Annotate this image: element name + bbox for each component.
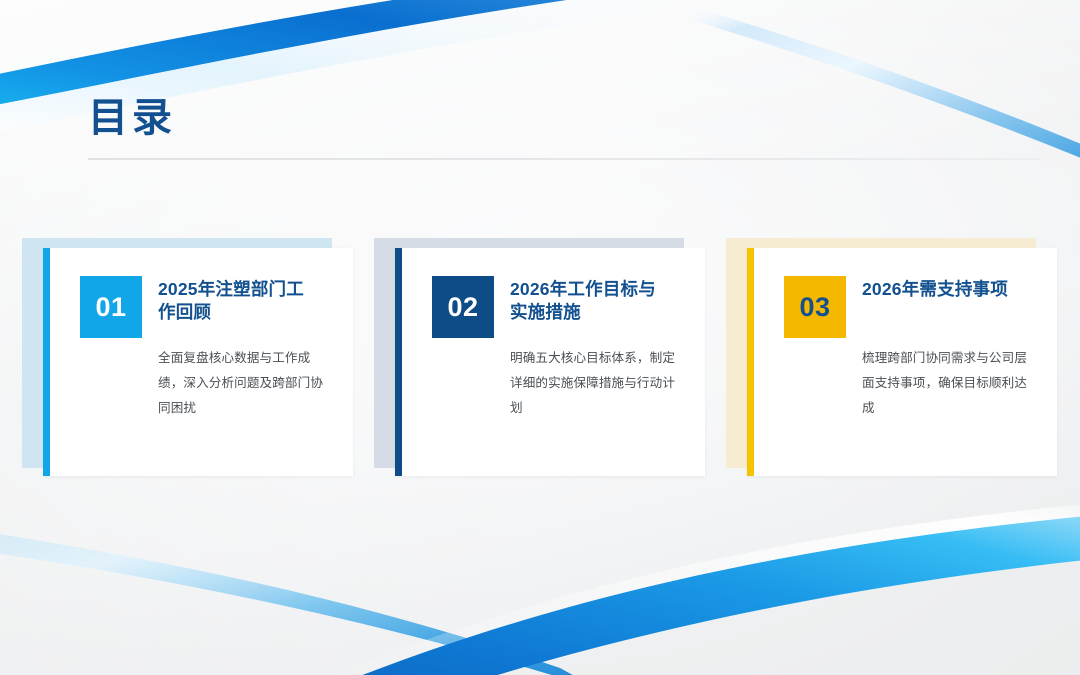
toc-card-03[interactable]: 03 2026年需支持事项 梳理跨部门协同需求与公司层面支持事项，确保目标顺利达…: [726, 238, 1057, 483]
ribbon-bottom-left: [0, 528, 600, 675]
card-number-badge: 02: [432, 276, 494, 338]
card-number-badge: 01: [80, 276, 142, 338]
ribbon-bottom-right: [300, 516, 1080, 675]
card-content: 03 2026年需支持事项 梳理跨部门协同需求与公司层面支持事项，确保目标顺利达…: [784, 276, 1043, 422]
ribbon-bottom-right-glow: [286, 504, 1080, 675]
card-title: 2025年注塑部门工作回顾: [158, 276, 320, 325]
card-number-badge: 03: [784, 276, 846, 338]
card-accent-bar: [747, 248, 754, 476]
card-accent-bar: [395, 248, 402, 476]
card-accent-bar: [43, 248, 50, 476]
card-description: 明确五大核心目标体系，制定详细的实施保障措施与行动计划: [432, 338, 680, 422]
title-divider: [88, 158, 1040, 160]
card-description: 全面复盘核心数据与工作成绩，深入分析问题及跨部门协同困扰: [80, 338, 328, 422]
slide-header: 目录: [88, 96, 1008, 140]
page-title: 目录: [88, 96, 1008, 140]
card-content: 02 2026年工作目标与实施措施 明确五大核心目标体系，制定详细的实施保障措施…: [432, 276, 691, 422]
card-title: 2026年工作目标与实施措施: [510, 276, 672, 325]
card-title: 2026年需支持事项: [862, 276, 1008, 301]
slide-canvas: 目录 01 2025年注塑部门工作回顾 全面复盘核心数据与工作成绩，深入分析问题…: [0, 0, 1080, 675]
toc-card-02[interactable]: 02 2026年工作目标与实施措施 明确五大核心目标体系，制定详细的实施保障措施…: [374, 238, 705, 483]
card-content: 01 2025年注塑部门工作回顾 全面复盘核心数据与工作成绩，深入分析问题及跨部…: [80, 276, 339, 422]
card-heading-row: 02 2026年工作目标与实施措施: [432, 276, 691, 338]
card-description: 梳理跨部门协同需求与公司层面支持事项，确保目标顺利达成: [784, 338, 1032, 422]
card-heading-row: 01 2025年注塑部门工作回顾: [80, 276, 339, 338]
toc-card-01[interactable]: 01 2025年注塑部门工作回顾 全面复盘核心数据与工作成绩，深入分析问题及跨部…: [22, 238, 353, 483]
card-heading-row: 03 2026年需支持事项: [784, 276, 1043, 338]
toc-card-list: 01 2025年注塑部门工作回顾 全面复盘核心数据与工作成绩，深入分析问题及跨部…: [22, 238, 1058, 483]
